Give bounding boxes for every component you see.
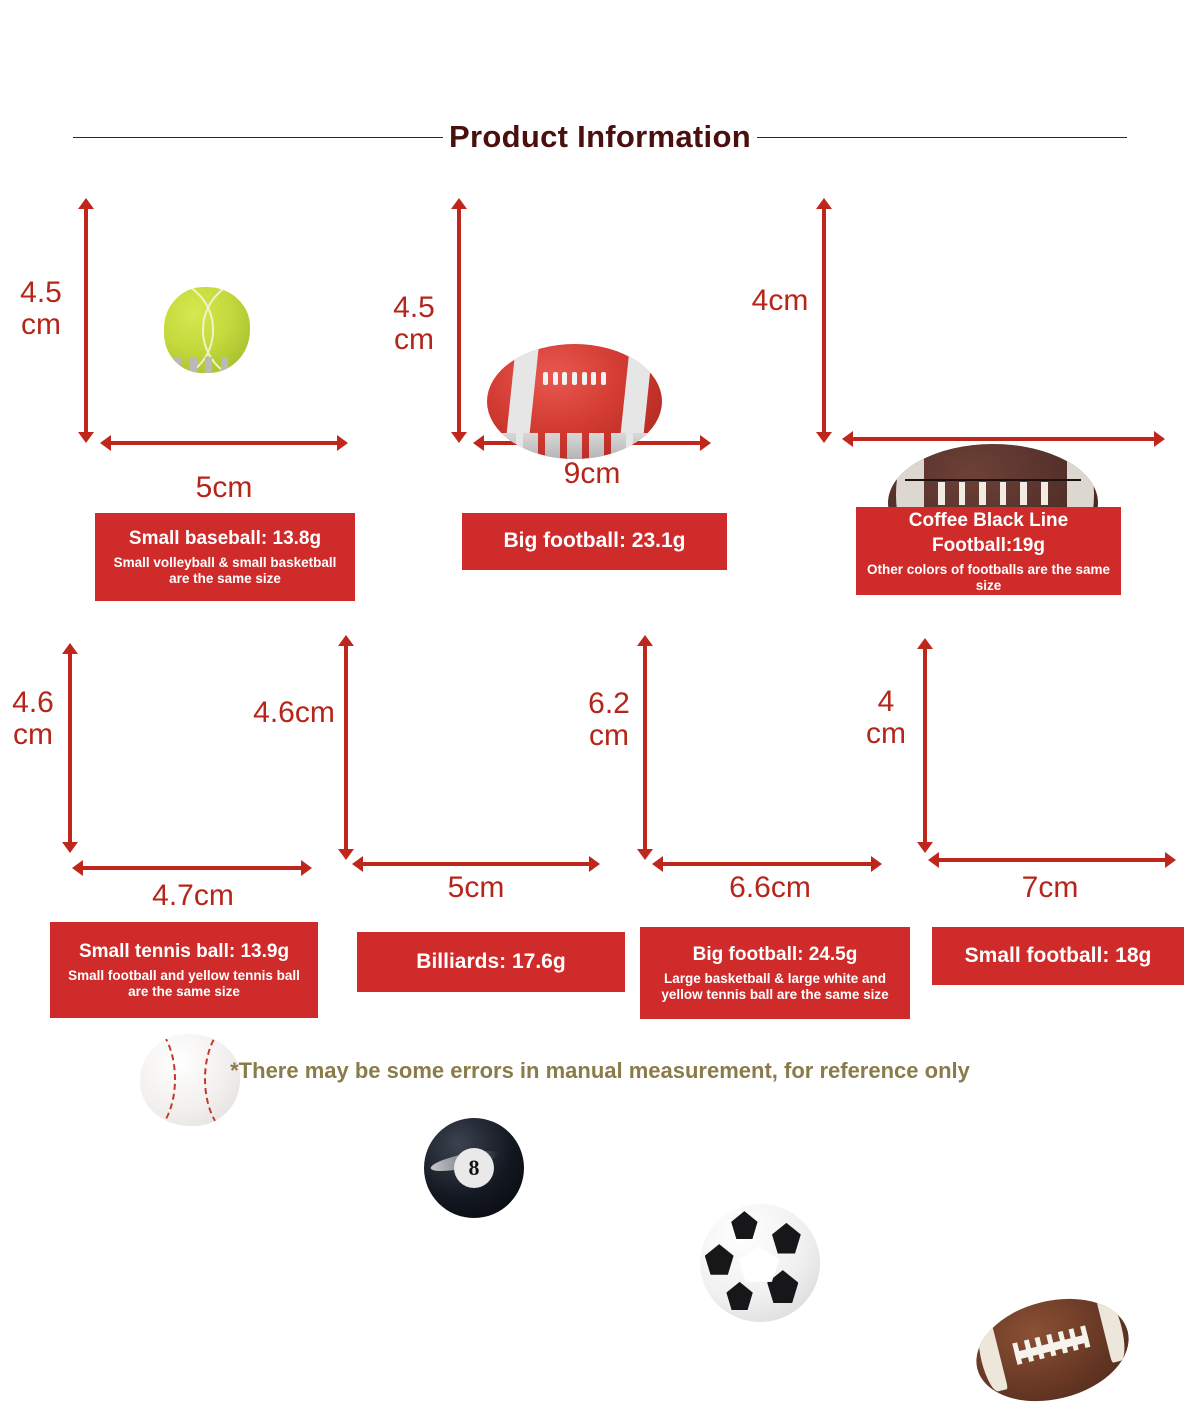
width-label-big-football-soccer: 6.6cm bbox=[700, 872, 840, 904]
info-sub-small-baseball: Small volleyball & small basketball are … bbox=[103, 555, 347, 587]
info-box-billiards: Billiards: 17.6g bbox=[357, 932, 625, 992]
height-label-billiards: 4.6cm bbox=[248, 697, 340, 729]
height-arrow-small-tennis-ball bbox=[68, 653, 72, 843]
info-title-small-baseball: Small baseball: 13.8g bbox=[129, 526, 321, 552]
height-label-big-football-soccer: 6.2 cm bbox=[578, 688, 640, 751]
width-arrow-coffee-football bbox=[852, 437, 1155, 441]
info-box-big-football-red: Big football: 23.1g bbox=[462, 513, 727, 570]
info-sub-big-football-soccer: Large basketball & large white and yello… bbox=[648, 971, 902, 1003]
info-box-small-tennis-ball: Small tennis ball: 13.9g Small football … bbox=[50, 922, 318, 1018]
product-image-small-baseball bbox=[164, 287, 250, 373]
height-arrow-big-football-soccer bbox=[643, 645, 647, 850]
height-arrow-big-football-red bbox=[457, 208, 461, 433]
info-title-coffee-football: Coffee Black Line Football:19g bbox=[864, 508, 1113, 559]
height-arrow-small-baseball bbox=[84, 208, 88, 433]
info-title-small-tennis-ball: Small tennis ball: 13.9g bbox=[79, 939, 289, 965]
product-image-small-football-brown bbox=[965, 1284, 1139, 1416]
page-title-bar: Product Information bbox=[0, 112, 1200, 162]
title-rule-right bbox=[757, 137, 1127, 138]
info-title-big-football-red: Big football: 23.1g bbox=[503, 527, 685, 555]
height-arrow-coffee-football bbox=[822, 208, 826, 433]
width-label-small-tennis-ball: 4.7cm bbox=[118, 880, 268, 912]
width-label-small-football-brown: 7cm bbox=[995, 872, 1105, 904]
product-image-billiards: 8 bbox=[424, 1118, 524, 1218]
info-title-small-football-brown: Small football: 18g bbox=[965, 942, 1152, 970]
height-arrow-billiards bbox=[344, 645, 348, 850]
product-image-big-football-red bbox=[487, 344, 662, 459]
footer-note: *There may be some errors in manual meas… bbox=[0, 1058, 1200, 1084]
info-title-big-football-soccer: Big football: 24.5g bbox=[693, 942, 858, 968]
info-box-big-football-soccer: Big football: 24.5g Large basketball & l… bbox=[640, 927, 910, 1019]
width-arrow-small-baseball bbox=[110, 441, 338, 445]
info-box-small-baseball: Small baseball: 13.8g Small volleyball &… bbox=[95, 513, 355, 601]
info-sub-small-tennis-ball: Small football and yellow tennis ball ar… bbox=[58, 968, 310, 1000]
height-label-small-football-brown: 4 cm bbox=[858, 686, 914, 749]
billiard-ball-number: 8 bbox=[454, 1148, 494, 1188]
height-label-coffee-football: 4cm bbox=[744, 285, 816, 317]
width-label-big-football-red: 9cm bbox=[532, 458, 652, 490]
height-label-small-baseball: 4.5 cm bbox=[8, 277, 74, 340]
width-arrow-billiards bbox=[362, 862, 590, 866]
product-image-big-football-soccer bbox=[700, 1204, 820, 1322]
width-label-billiards: 5cm bbox=[416, 872, 536, 904]
height-arrow-small-football-brown bbox=[923, 648, 927, 843]
width-label-small-baseball: 5cm bbox=[164, 472, 284, 504]
title-rule-left bbox=[73, 137, 443, 138]
width-arrow-small-tennis-ball bbox=[82, 866, 302, 870]
height-label-small-tennis-ball: 4.6 cm bbox=[2, 687, 64, 750]
info-sub-coffee-football: Other colors of footballs are the same s… bbox=[864, 562, 1113, 594]
info-box-small-football-brown: Small football: 18g bbox=[932, 927, 1184, 985]
height-label-big-football-red: 4.5 cm bbox=[381, 292, 447, 355]
info-title-billiards: Billiards: 17.6g bbox=[416, 948, 565, 976]
width-arrow-big-football-soccer bbox=[662, 862, 872, 866]
width-arrow-small-football-brown bbox=[938, 858, 1166, 862]
page-title: Product Information bbox=[449, 119, 751, 155]
info-box-coffee-football: Coffee Black Line Football:19g Other col… bbox=[856, 507, 1121, 595]
